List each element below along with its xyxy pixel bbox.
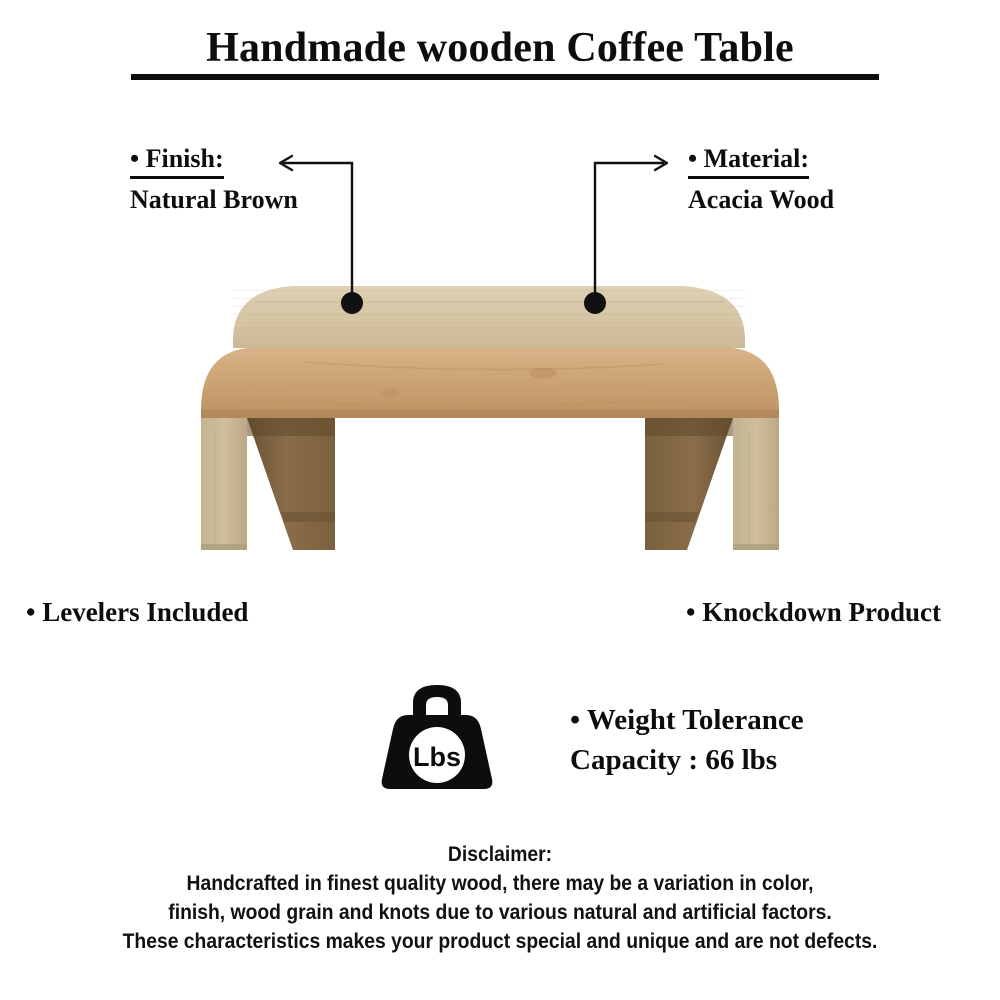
disclaimer-block: Disclaimer: Handcrafted in finest qualit… bbox=[40, 840, 960, 956]
callout-material-label: • Material: bbox=[688, 142, 809, 179]
table-apron bbox=[201, 348, 779, 418]
table-leg-left bbox=[201, 418, 335, 550]
arrowhead-right-icon bbox=[655, 156, 667, 170]
weight-icon-label: Lbs bbox=[413, 742, 461, 772]
feature-knockdown: • Knockdown Product bbox=[686, 597, 941, 628]
product-infographic: Handmade wooden Coffee Table • Finish: N… bbox=[0, 0, 1000, 1000]
callout-finish: • Finish: Natural Brown bbox=[130, 142, 298, 216]
table-top bbox=[233, 286, 745, 348]
callout-finish-label: • Finish: bbox=[130, 142, 224, 179]
disclaimer-line-1: Handcrafted in finest quality wood, ther… bbox=[40, 869, 960, 898]
disclaimer-heading: Disclaimer: bbox=[40, 840, 960, 869]
disclaimer-line-2: finish, wood grain and knots due to vari… bbox=[40, 898, 960, 927]
weight-tolerance-text: • Weight Tolerance Capacity : 66 lbs bbox=[570, 700, 804, 780]
feature-levelers: • Levelers Included bbox=[26, 597, 248, 628]
callout-material-value: Acacia Wood bbox=[688, 183, 834, 216]
table-leg-right bbox=[645, 418, 779, 550]
callout-material: • Material: Acacia Wood bbox=[688, 142, 834, 216]
weight-lbs-icon: Lbs bbox=[378, 675, 496, 793]
title-underline bbox=[131, 74, 879, 80]
weight-line-2: Capacity : 66 lbs bbox=[570, 744, 777, 776]
callout-finish-value: Natural Brown bbox=[130, 183, 298, 216]
disclaimer-line-3: These characteristics makes your product… bbox=[40, 927, 960, 956]
product-image bbox=[185, 250, 795, 570]
weight-line-1: • Weight Tolerance bbox=[570, 704, 804, 736]
page-title: Handmade wooden Coffee Table bbox=[0, 24, 1000, 72]
